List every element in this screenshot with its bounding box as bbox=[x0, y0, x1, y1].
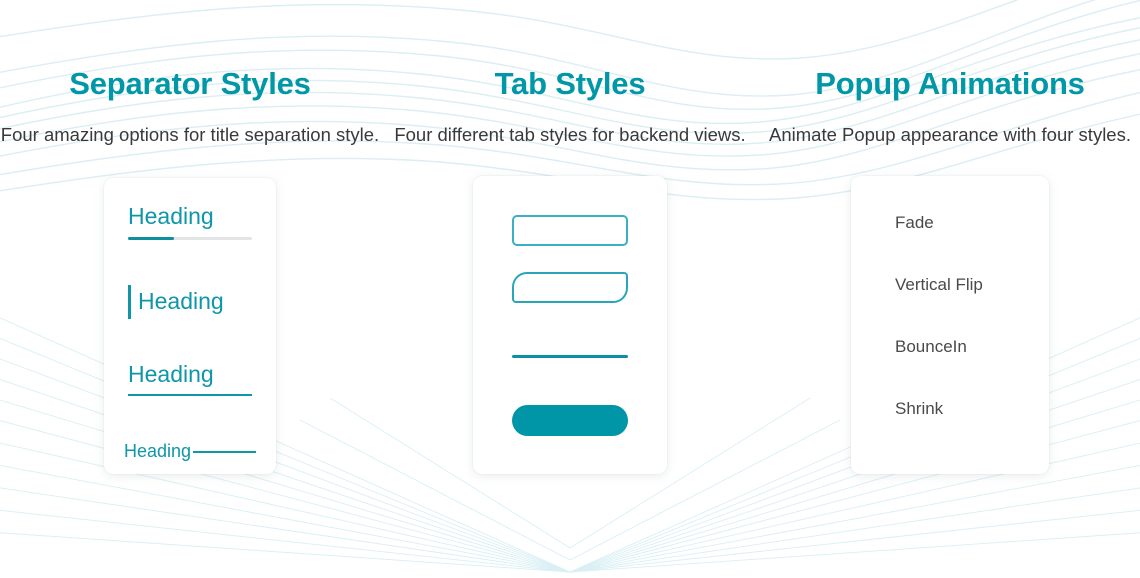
list-item-fade[interactable]: Fade bbox=[895, 214, 1049, 231]
list-item-bouncein[interactable]: BounceIn bbox=[895, 338, 1049, 355]
tab-style-outlined-rect[interactable] bbox=[512, 215, 628, 246]
column-popup-animations: Popup Animations Animate Popup appearanc… bbox=[760, 0, 1140, 578]
card-popup-animations: Fade Vertical Flip BounceIn Shrink bbox=[851, 176, 1049, 474]
list-item-vertical-flip[interactable]: Vertical Flip bbox=[895, 276, 1049, 293]
separator-style-trailing-line[interactable]: Heading bbox=[124, 442, 256, 462]
page-title-popup-animations: Popup Animations bbox=[815, 66, 1084, 102]
separator-trailing-line bbox=[193, 451, 256, 453]
separator-label: Heading bbox=[138, 289, 224, 314]
separator-vertical-bar bbox=[128, 285, 131, 319]
separator-rule-split bbox=[128, 237, 252, 240]
column-separator-styles: Separator Styles Four amazing options fo… bbox=[0, 0, 380, 578]
card-tab-styles bbox=[473, 176, 667, 474]
list-item-shrink[interactable]: Shrink bbox=[895, 400, 1049, 417]
page-title-tab-styles: Tab Styles bbox=[495, 66, 646, 102]
card-separator-styles: Heading Heading Heading Heading bbox=[104, 178, 276, 474]
separator-rule-underline bbox=[128, 394, 252, 396]
subtitle-separator-styles: Four amazing options for title separatio… bbox=[1, 122, 379, 149]
separator-label: Heading bbox=[128, 204, 252, 229]
tab-style-outlined-leaf[interactable] bbox=[512, 272, 628, 303]
subtitle-tab-styles: Four different tab styles for backend vi… bbox=[394, 122, 745, 149]
tab-style-underline[interactable] bbox=[512, 355, 628, 359]
separator-label: Heading bbox=[124, 442, 191, 462]
separator-style-full-underline[interactable]: Heading bbox=[128, 362, 252, 396]
separator-style-underline-split[interactable]: Heading bbox=[128, 204, 252, 239]
feature-columns: Separator Styles Four amazing options fo… bbox=[0, 0, 1140, 578]
tab-underline-rule bbox=[512, 355, 628, 358]
column-tab-styles: Tab Styles Four different tab styles for… bbox=[380, 0, 760, 578]
subtitle-popup-animations: Animate Popup appearance with four style… bbox=[769, 122, 1131, 149]
separator-label: Heading bbox=[128, 362, 252, 387]
page-title-separator-styles: Separator Styles bbox=[69, 66, 310, 102]
separator-style-left-bar[interactable]: Heading bbox=[128, 285, 252, 319]
tab-style-filled-pill[interactable] bbox=[512, 405, 628, 436]
